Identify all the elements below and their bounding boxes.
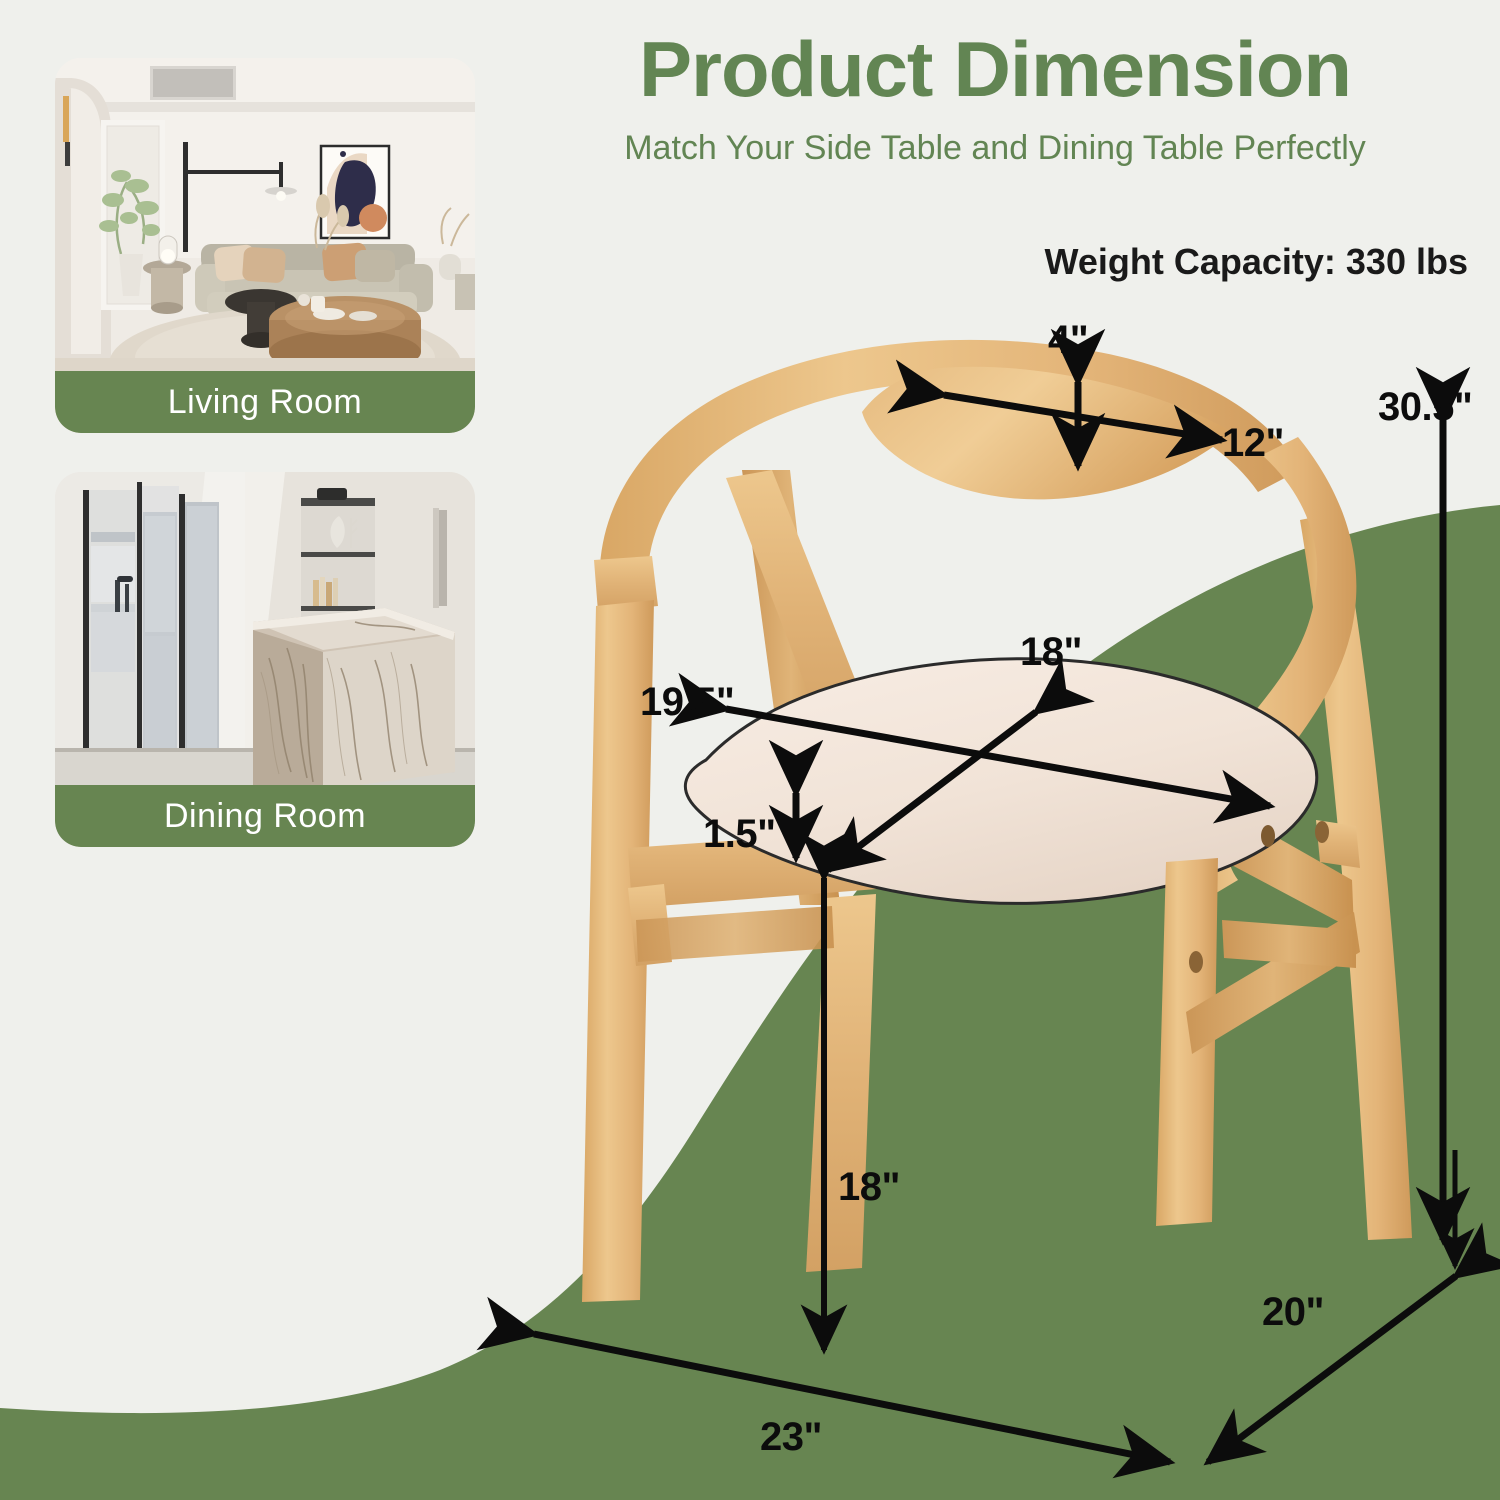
dim-arrow-base-depth [1208,1276,1456,1462]
page-subtitle: Match Your Side Table and Dining Table P… [500,130,1490,167]
dim-label-base-depth: 20" [1262,1290,1324,1335]
infographic-canvas: Product Dimension Match Your Side Table … [0,0,1500,1500]
card-label-text: Living Room [168,383,362,422]
dim-arrow-backrest-width [944,395,1222,440]
dim-label-backrest-height: 4" [1048,318,1088,363]
dim-label-overall-height: 30.5" [1378,385,1472,430]
scene-card-dining-room[interactable]: Dining Room [55,472,475,847]
capacity-wrap: Weight Capacity: 330 lbs [500,215,1490,283]
card-label-ribbon: Living Room [55,371,475,433]
header: Product Dimension Match Your Side Table … [500,30,1490,167]
dim-label-seat-height: 18" [838,1165,900,1210]
dim-label-base-width: 23" [760,1415,822,1460]
scene-card-living-room[interactable]: Living Room [55,58,475,433]
dim-arrow-seat-width [726,709,1270,806]
card-label-text: Dining Room [164,797,366,836]
dim-label-seat-width: 19.5" [640,680,734,725]
card-label-ribbon: Dining Room [55,785,475,847]
weight-capacity-text: Weight Capacity: 330 lbs [500,241,1490,283]
dim-label-cushion-thickness: 1.5" [703,812,776,857]
page-title: Product Dimension [490,30,1500,108]
dim-label-seat-depth: 18" [1020,630,1082,675]
dim-label-backrest-width: 12" [1222,421,1284,466]
dim-arrow-base-width [534,1334,1170,1462]
